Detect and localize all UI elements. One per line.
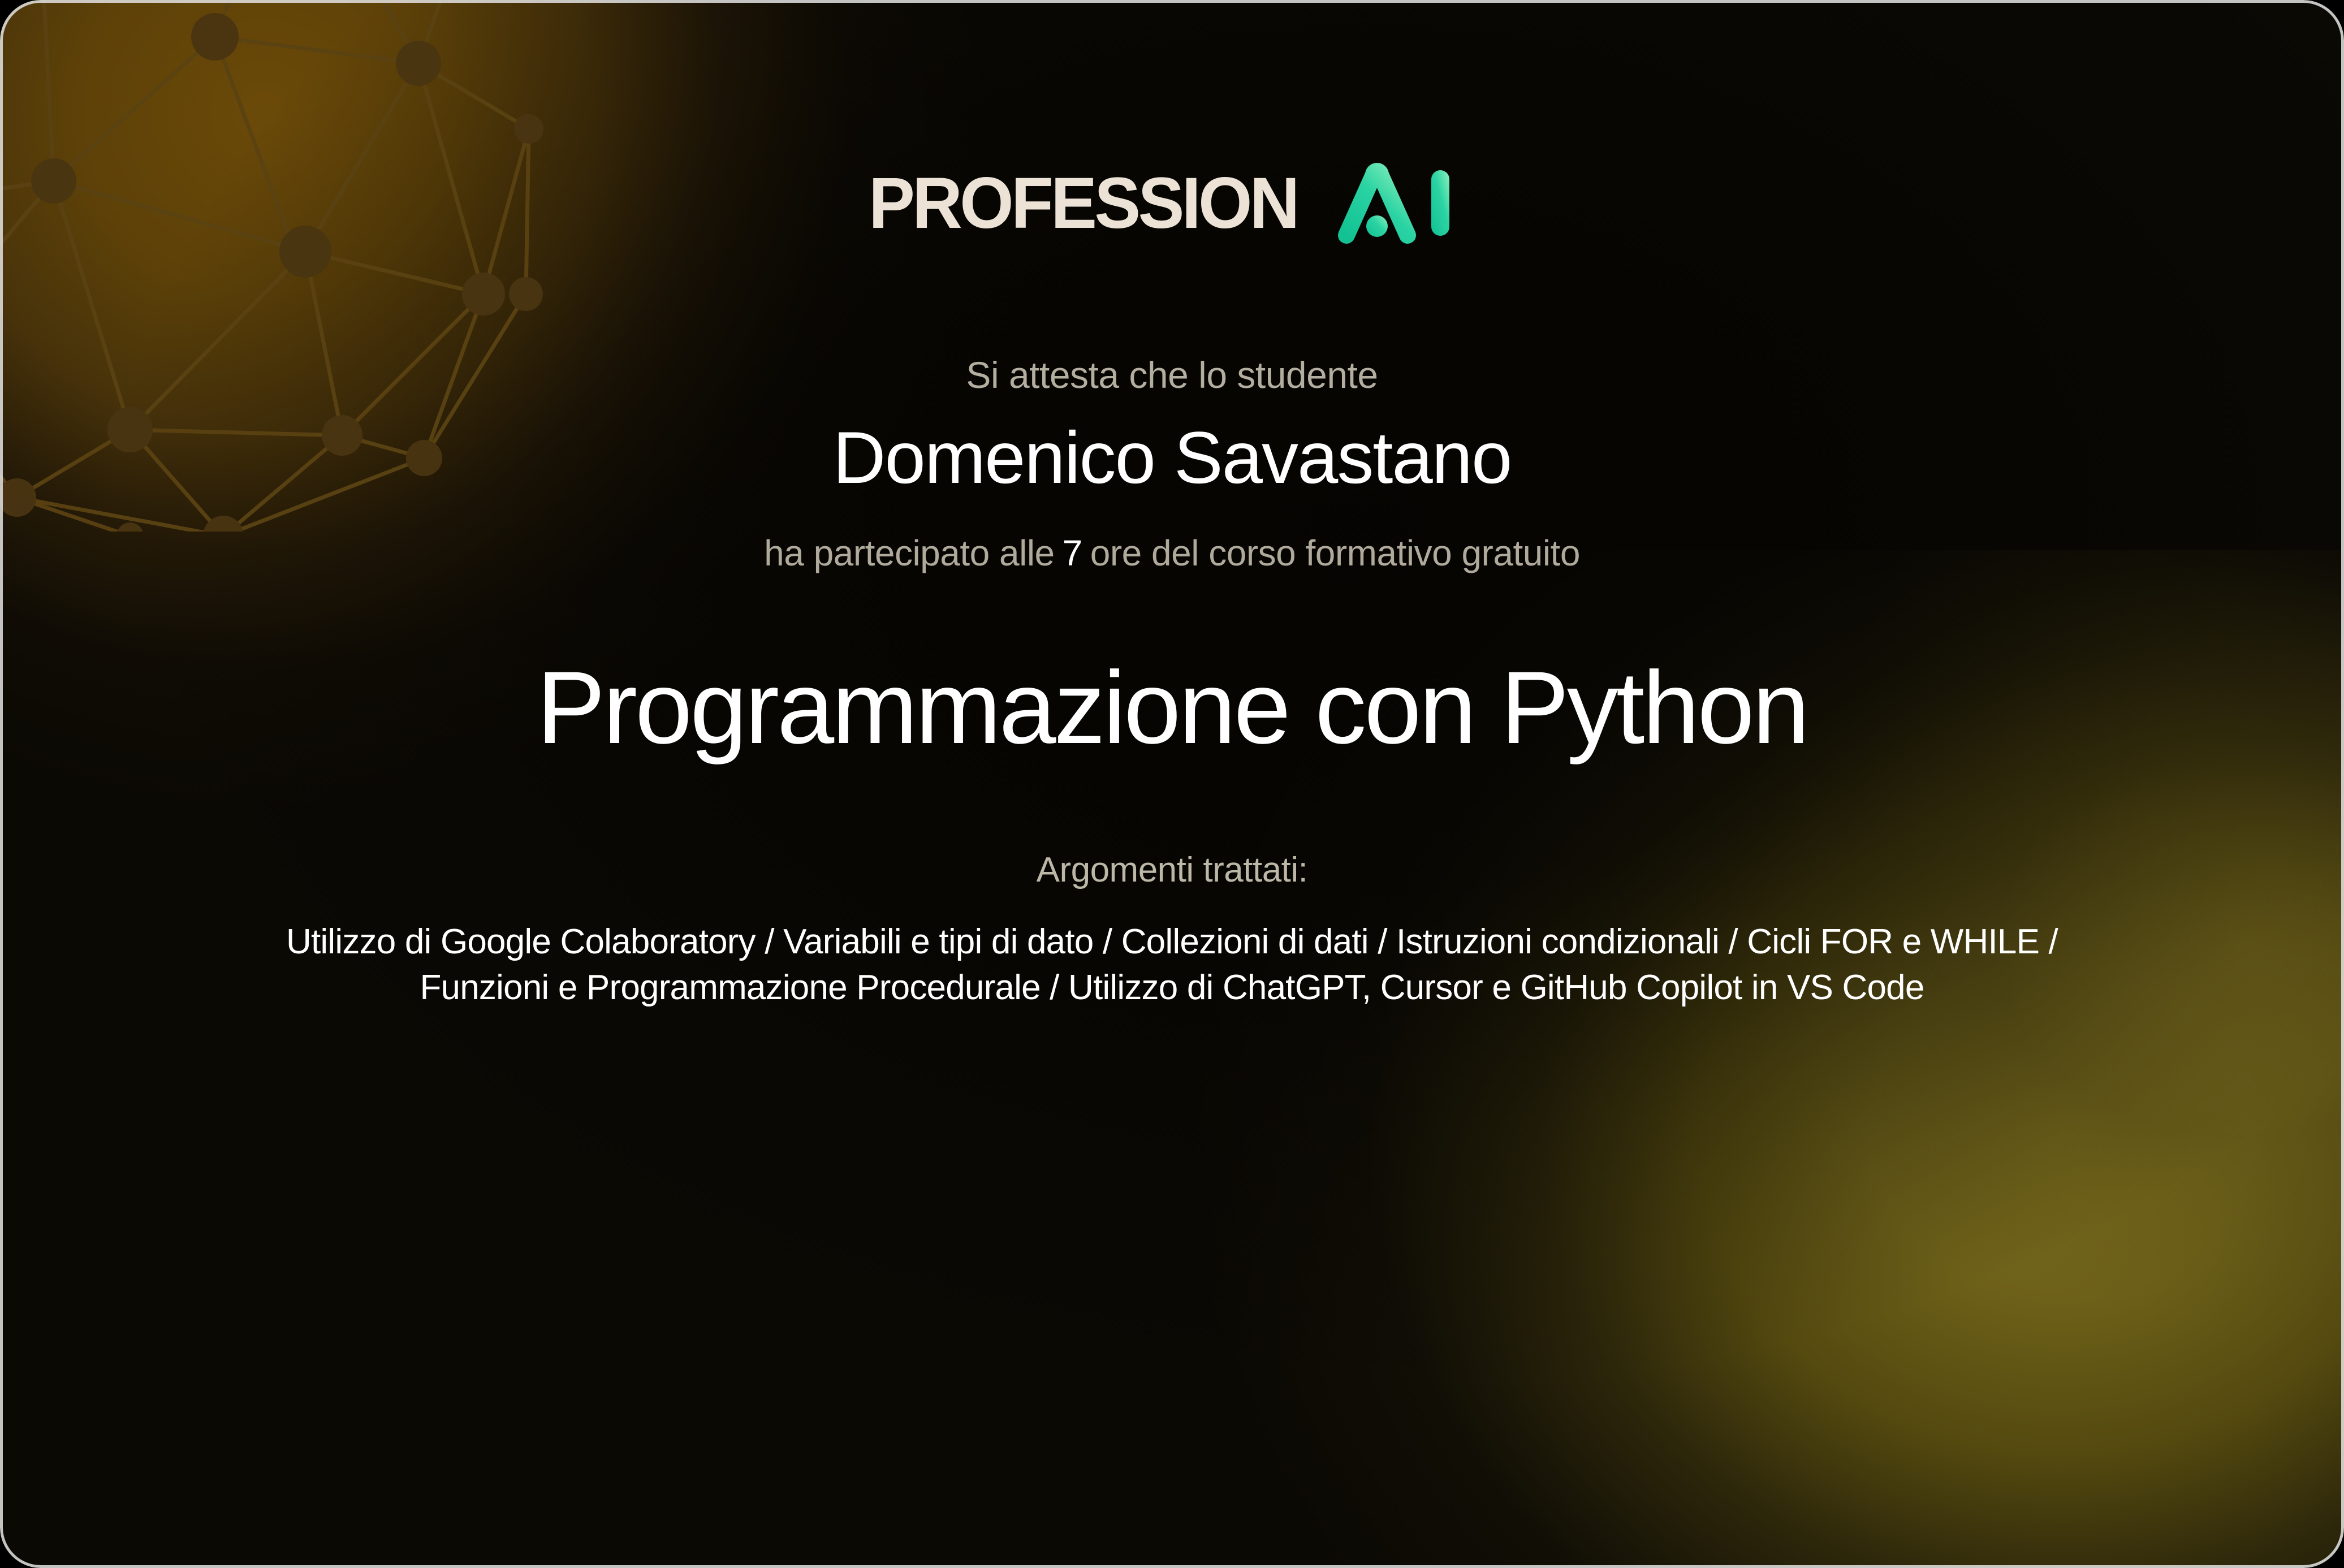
topics-list: Utilizzo di Google Colaboratory / Variab… (286, 919, 2058, 1010)
brand-wordmark: PROFESSION (869, 167, 1297, 240)
hours-prefix: ha partecipato alle (764, 532, 1055, 574)
topics-line: Funzioni e Programmazione Procedurale / … (286, 965, 2058, 1011)
course-title: Programmazione con Python (537, 653, 1807, 762)
brand-logo: PROFESSION (869, 161, 1475, 246)
hours-line: ha partecipato alle 7 ore del corso form… (764, 532, 1580, 574)
certificate-card: PROFESSION Si attesta che lo studente (0, 0, 2344, 1568)
attestation-line: Si attesta che lo studente (966, 353, 1378, 396)
topics-heading: Argomenti trattati: (1037, 850, 1308, 890)
brand-ai-mark-icon (1334, 161, 1475, 246)
hours-suffix: ore del corso formativo gratuito (1090, 532, 1580, 574)
student-name: Domenico Savastano (833, 418, 1512, 497)
hours-value: 7 (1055, 532, 1090, 574)
certificate-content: PROFESSION Si attesta che lo studente (0, 0, 2344, 1568)
topics-line: Utilizzo di Google Colaboratory / Variab… (286, 919, 2058, 965)
